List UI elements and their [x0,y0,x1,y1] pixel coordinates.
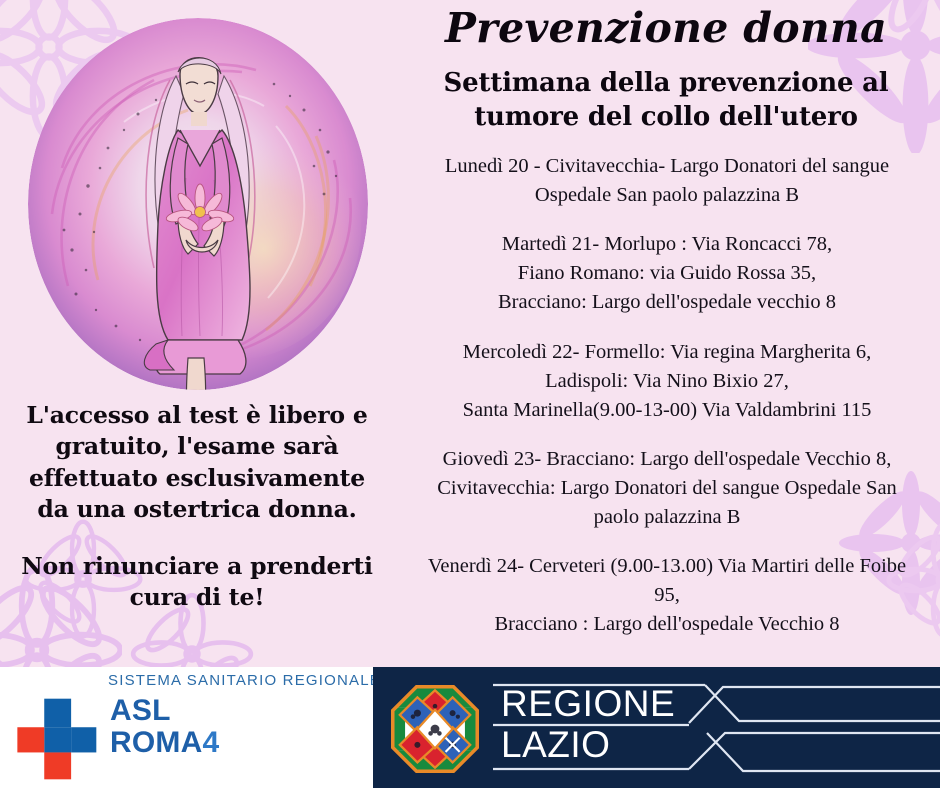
subtitle-line: tumore del collo dell'utero [416,100,916,134]
page-title: Prevenzione donna [392,6,940,50]
schedule-entry-giovedi: Giovedì 23- Bracciano: Largo dell'ospeda… [394,445,940,532]
poster-body: L'accesso al test è libero e gratuito, l… [0,0,940,667]
page-subtitle: Settimana della prevenzione al tumore de… [416,66,916,134]
schedule-entry-martedi: Martedì 21- Morlupo : Via Roncacci 78, F… [394,230,940,317]
lazio-name: REGIONE LAZIO [501,683,675,765]
schedule-line: Civitavecchia: Largo Donatori del sangue… [394,474,940,503]
left-column: L'accesso al test è libero e gratuito, l… [0,0,392,667]
schedule-line: Bracciano: Largo dell'ospedale vecchio 8 [394,288,940,317]
lazio-line-2: LAZIO [501,724,675,765]
schedule-line: Lunedì 20 - Civitavecchia- Largo Donator… [394,152,940,181]
lazio-line-1: REGIONE [501,683,675,724]
schedule-entry-mercoledi: Mercoledì 22- Formello: Via regina Margh… [394,338,940,425]
regione-lazio-logo: REGIONE LAZIO [373,667,940,788]
schedule-line: paolo palazzina B [394,503,940,532]
access-message: L'accesso al test è libero e gratuito, l… [16,400,378,614]
schedule-line: Ospedale San paolo palazzina B [394,181,940,210]
schedule-line: Santa Marinella(9.00-13-00) Via Valdambr… [394,396,940,425]
asl-number: 4 [202,726,219,759]
schedule-line: Ladispoli: Via Nino Bixio 27, [394,367,940,396]
asl-roma-4-logo: SISTEMA SANITARIO REGIONALE ASL ROMA4 [0,667,373,788]
schedule-line: Bracciano : Largo dell'ospedale Vecchio … [394,610,940,639]
subtitle-line: Settimana della prevenzione al [416,66,916,100]
message-line: gratuito, l'esame sarà [16,431,378,462]
footer: SISTEMA SANITARIO REGIONALE ASL ROMA4 [0,667,940,788]
schedule-line: Fiano Romano: via Guido Rossa 35, [394,259,940,288]
schedule-entry-lunedi: Lunedì 20 - Civitavecchia- Largo Donator… [394,152,940,210]
schedule-line: Martedì 21- Morlupo : Via Roncacci 78, [394,230,940,259]
message-line: L'accesso al test è libero e [16,400,378,431]
artwork-container [28,18,368,390]
schedule-list: Lunedì 20 - Civitavecchia- Largo Donator… [394,152,940,640]
call-to-action-line: Non rinunciare a prenderti [16,551,378,582]
schedule-entry-venerdi: Venerdì 24- Cerveteri (9.00-13.00) Via M… [394,552,940,639]
woman-with-lotus-illustration [28,18,368,390]
asl-line-1: ASL [110,695,219,727]
schedule-line: Venerdì 24- Cerveteri (9.00-13.00) Via M… [394,552,940,581]
health-cross-icon [14,697,98,781]
asl-line-2: ROMA4 [110,727,219,759]
asl-system-label: SISTEMA SANITARIO REGIONALE [108,672,381,689]
schedule-line: 95, [394,581,940,610]
call-to-action-line: cura di te! [16,582,378,613]
message-spacer [16,525,378,551]
message-line: da una ostertrica donna. [16,494,378,525]
poster-root: L'accesso al test è libero e gratuito, l… [0,0,940,788]
right-column: Prevenzione donna Settimana della preven… [392,0,940,667]
asl-roma-label: ROMA [110,726,202,759]
asl-name: ASL ROMA4 [110,695,219,760]
schedule-line: Mercoledì 22- Formello: Via regina Margh… [394,338,940,367]
message-line: effettuato esclusivamente [16,463,378,494]
regione-lazio-coat-of-arms [391,685,479,773]
schedule-line: Giovedì 23- Bracciano: Largo dell'ospeda… [394,445,940,474]
